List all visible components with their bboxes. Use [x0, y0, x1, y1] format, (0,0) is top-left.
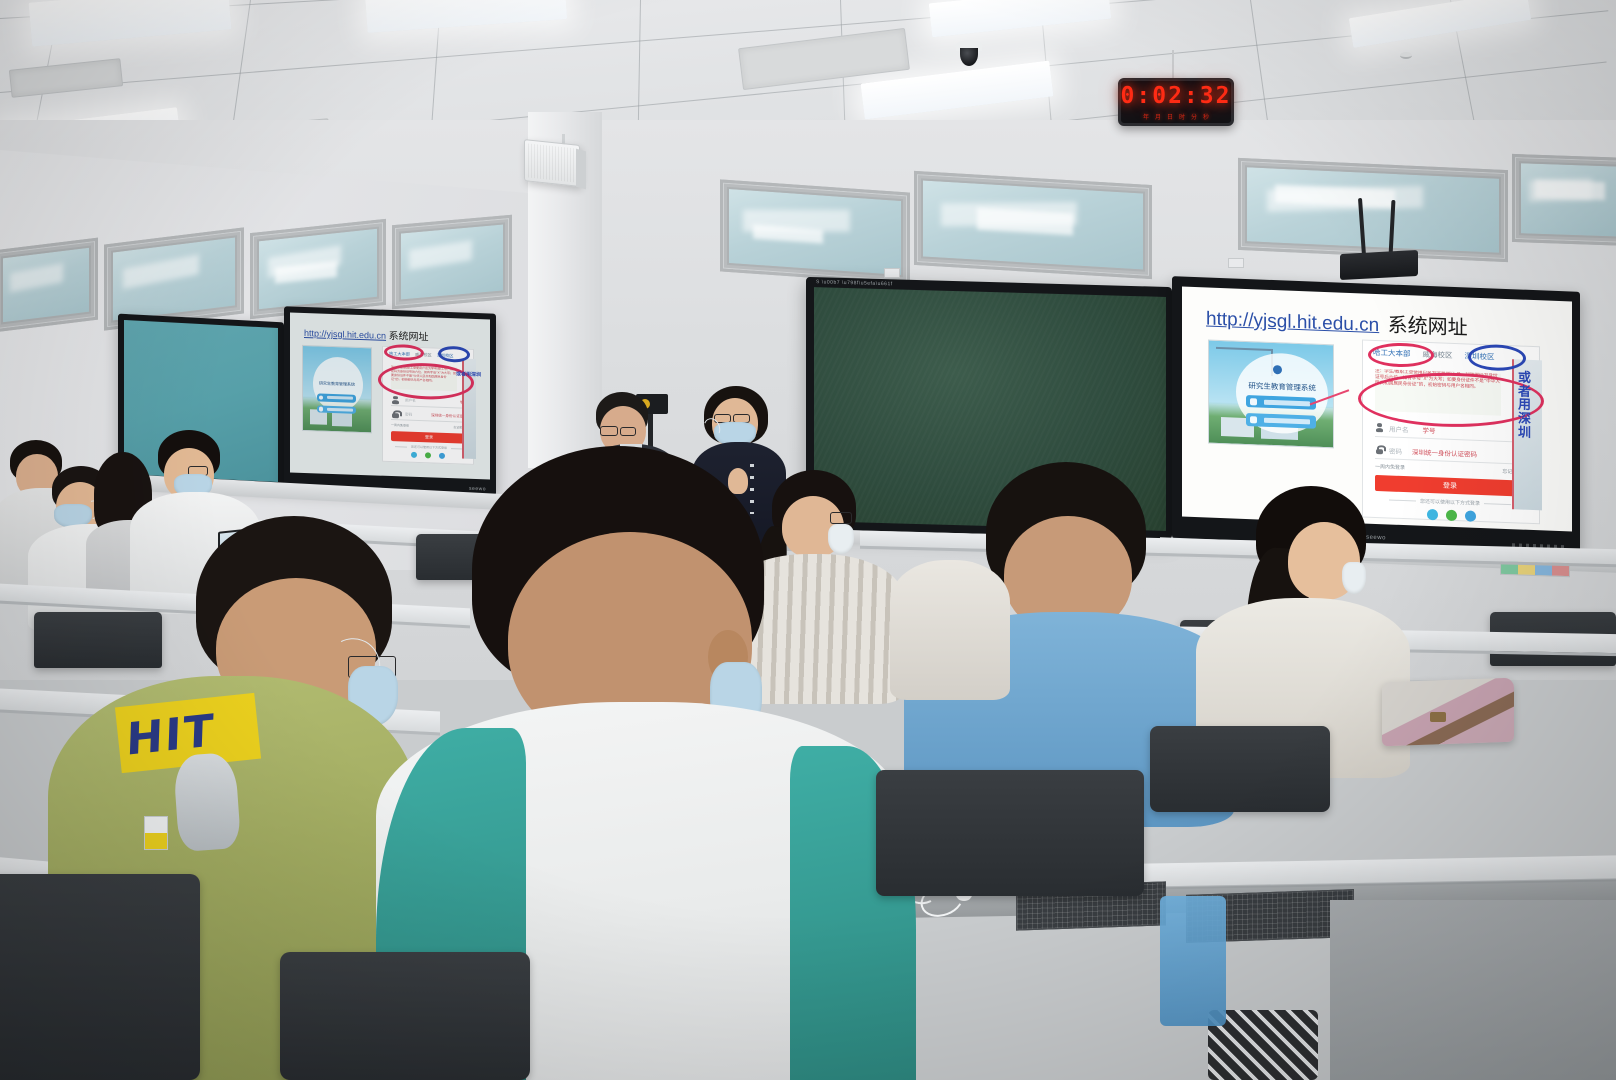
slide-url-text[interactable]: http://yjsgl.hit.edu.cn	[1206, 308, 1379, 336]
face-mask	[1342, 562, 1366, 594]
chair-foreground-mid[interactable]	[280, 952, 530, 1080]
slide-password-field[interactable]: 密码 深圳统一身份认证密码	[1375, 441, 1525, 465]
slide-login-button-mirror[interactable]: 登录	[391, 431, 467, 444]
classroom-scene: 0:02:32 年 月 日 时 分 秒 http://yjsgl.hit.edu…	[0, 0, 1616, 1080]
social-icon-2	[1446, 510, 1457, 521]
slide-card-button-secondary[interactable]	[1246, 413, 1315, 428]
slide-title-cn: 系统网址	[1388, 312, 1468, 339]
wall-outlet	[1228, 258, 1244, 268]
slide-login-card: 研究生教育管理系统	[1208, 340, 1334, 449]
chair-foreground-right[interactable]	[876, 770, 1144, 896]
chair-row-right[interactable]	[1150, 726, 1330, 812]
chair-foreground-left[interactable]	[0, 874, 200, 1080]
slide-side-annotation: 或者用深圳	[1518, 371, 1534, 440]
user-icon	[1375, 423, 1384, 432]
slide-title: http://yjsgl.hit.edu.cn 系统网址	[1206, 301, 1468, 340]
slide-password-placeholder: 密码	[1389, 445, 1402, 455]
wifi-router	[1340, 250, 1418, 280]
slide-url-text-mirror: http://yjsgl.hit.edu.cn	[304, 328, 386, 341]
smoke-detector-icon	[1400, 52, 1412, 59]
wall-speaker	[524, 139, 580, 187]
wall-outlet	[884, 268, 900, 278]
social-icon-3	[1465, 510, 1476, 521]
countdown-led-clock: 0:02:32 年 月 日 时 分 秒	[1118, 78, 1234, 126]
clock-time-readout: 0:02:32	[1121, 83, 1232, 109]
slide-username-placeholder: 用户名	[1389, 423, 1409, 434]
lock-icon	[391, 410, 400, 419]
shirt-paint-can	[144, 816, 168, 850]
glasses	[620, 427, 636, 436]
slide-form-options: 一周内免登录 忘记密码?	[1375, 463, 1525, 476]
lock-icon	[1375, 445, 1384, 454]
social-icon-1	[1427, 509, 1438, 520]
dome-camera-icon	[956, 40, 982, 66]
glasses	[600, 426, 618, 436]
slide-username-placeholder-mirror: 用户名	[405, 398, 416, 403]
blue-cloth-under-desk	[1160, 896, 1226, 1026]
window-bank-right	[700, 138, 1616, 298]
slide-password-placeholder-mirror: 密码	[405, 412, 412, 417]
user-icon	[391, 396, 400, 405]
clock-unit-labels: 年 月 日 时 分 秒	[1143, 112, 1209, 121]
slide-remember-label[interactable]: 一周内免登录	[1375, 463, 1405, 471]
speaker-side-panel	[576, 149, 586, 190]
bag-buckle-icon	[1430, 712, 1446, 722]
slide-remember-label-mirror: 一周内免登录	[391, 423, 409, 428]
annotation-circle-main-campus	[1368, 343, 1435, 367]
lavender-bag	[1382, 678, 1514, 747]
slide-title-cn-mirror: 系统网址	[389, 331, 429, 343]
slide-password-annotation: 深圳统一身份认证密码	[1412, 446, 1477, 458]
slide-side-annotation-mirror: 或者用深圳	[456, 372, 481, 378]
